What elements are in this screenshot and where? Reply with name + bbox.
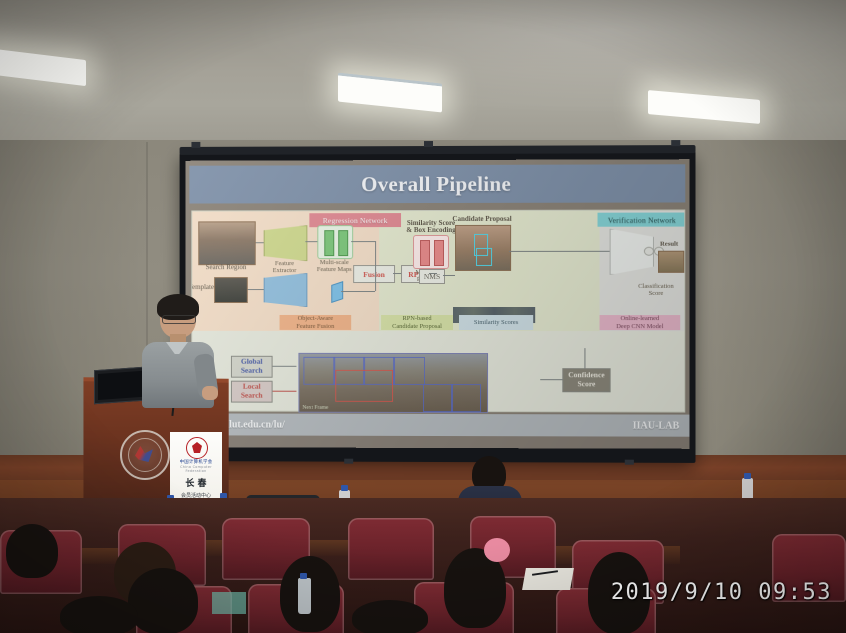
candidate-proposal-label: Candidate Proposal (449, 215, 515, 224)
feature-extractor-search (264, 225, 308, 261)
arrow-vertical-fusion (375, 273, 376, 291)
projected-slide: Overall Pipeline Regression Network Veri… (185, 159, 689, 449)
local-search-region (335, 370, 393, 402)
dcnn-line1: Online-learned (621, 315, 660, 322)
arrow-confidence-in (540, 379, 562, 380)
feature-extractor-label-line2: Extractor (262, 267, 308, 275)
next-frame-label: Next Frame (302, 405, 328, 411)
arrow-template-to-extractor (248, 289, 264, 290)
arrow-maps-to-fusion (351, 241, 375, 242)
arrow-search-to-extractor (256, 242, 264, 243)
search-region-image (198, 221, 255, 265)
nms-box: NMS (419, 269, 445, 284)
search-grid-cell (303, 357, 335, 385)
search-grid-cell (451, 384, 481, 412)
rpnp-line1: RPN-based (402, 315, 431, 322)
slide-footer-lab: IIAU-LAB (633, 420, 680, 431)
attendee-head (352, 600, 428, 633)
tracking-loop-row: Global Search Local Search Next Frame Co… (191, 348, 683, 415)
camera-timestamp: 2019/9/10 09:53 (611, 580, 832, 605)
object-aware-fusion-tag: Object-Aware Feature Fusion (280, 315, 352, 330)
photograph-conference-presentation: Overall Pipeline Regression Network Veri… (0, 0, 846, 633)
slide-title: Overall Pipeline (361, 171, 511, 196)
similarity-scores-tag: Similarity Scores (459, 315, 533, 330)
arrow-fused-to-fusion (341, 291, 375, 292)
slide-footer: p://ice.dlut.edu.cn/lu/ IIAU-LAB (185, 413, 689, 436)
arrow-to-global-search (273, 366, 297, 367)
audience-chair (348, 518, 434, 580)
dcnn-line2: Deep CNN Model (616, 323, 663, 330)
confidence-score-line2: Score (578, 379, 596, 388)
teal-item (212, 592, 246, 614)
ccf-city: 长 春 (170, 476, 222, 489)
confidence-score-box: Confidence Score (562, 368, 610, 392)
screen-mount-bracket (424, 141, 433, 147)
presenter-hand (202, 386, 218, 400)
rpn-based-proposal-tag: RPN-based Candidate Proposal (381, 315, 453, 330)
arrow-down-to-fusion (375, 241, 376, 273)
presenter (140, 298, 216, 406)
local-search-box[interactable]: Local Search (231, 381, 273, 403)
arrow-rpn-to-pred (429, 273, 437, 274)
prediction-plane (434, 240, 444, 266)
screen-mount-bracket (625, 460, 634, 465)
slide-bottom-margin (185, 435, 689, 448)
ceiling (0, 0, 846, 150)
search-grid-cell (393, 357, 425, 385)
arrow-extractor-to-maps (305, 241, 317, 242)
screen-mount-bracket (344, 459, 353, 464)
water-bottle (298, 578, 311, 614)
attendee-head (6, 524, 58, 578)
oaf-line1: Object-Aware (298, 315, 333, 322)
feature-maps-label-line2: Feature Maps (309, 266, 359, 274)
prediction-plane (420, 240, 430, 266)
screen-mount-bracket (191, 142, 200, 148)
rpnp-line2: Candidate Proposal (392, 322, 442, 329)
attendee-head (60, 596, 138, 633)
oaf-line2: Feature Fusion (296, 322, 334, 329)
similarity-score-label-line2: & Box Encoding (399, 226, 463, 235)
template-image (214, 277, 248, 303)
candidate-proposal-image (455, 225, 511, 271)
proposal-bbox (476, 248, 492, 266)
ccf-org-en: China Computer Federation (170, 465, 222, 473)
glasses-icon (162, 315, 196, 324)
feature-map-plane (324, 230, 334, 256)
arrow-nms-to-candidate (443, 275, 455, 276)
podium-emblem-logo (120, 430, 170, 480)
global-search-box[interactable]: Global Search (231, 356, 273, 378)
arrow-candidate-to-verification (509, 251, 610, 252)
wall-shadow-right (700, 140, 846, 470)
next-frame-image: Next Frame (298, 353, 488, 413)
ccf-emblem-icon (186, 437, 208, 459)
search-grid-cell (423, 384, 453, 412)
arrow-down-confidence (584, 348, 585, 368)
diagram-panel-proposal (529, 211, 599, 331)
online-deep-cnn-tag: Online-learned Deep CNN Model (600, 315, 681, 330)
arrow-fusion-to-rpn (393, 273, 401, 274)
search-region-label: Search Region (196, 263, 255, 272)
template-label: Template (191, 283, 216, 292)
pink-cup (484, 538, 510, 562)
classification-score-line2: Score (626, 290, 686, 298)
multi-scale-prediction-maps (413, 235, 449, 269)
arrow-to-local-search (273, 391, 297, 392)
verification-network-header: Verification Network (598, 213, 686, 227)
multi-scale-feature-maps (317, 225, 353, 259)
local-search-line2: Search (241, 391, 263, 400)
screen-mount-bracket (671, 140, 680, 146)
attendee-head (128, 568, 198, 633)
global-search-line2: Search (241, 366, 263, 375)
result-label: Result (652, 241, 685, 249)
result-image (658, 251, 684, 273)
feature-extractor-template (264, 273, 308, 307)
slide-title-band: Overall Pipeline (189, 164, 685, 203)
feature-map-plane (338, 230, 348, 256)
